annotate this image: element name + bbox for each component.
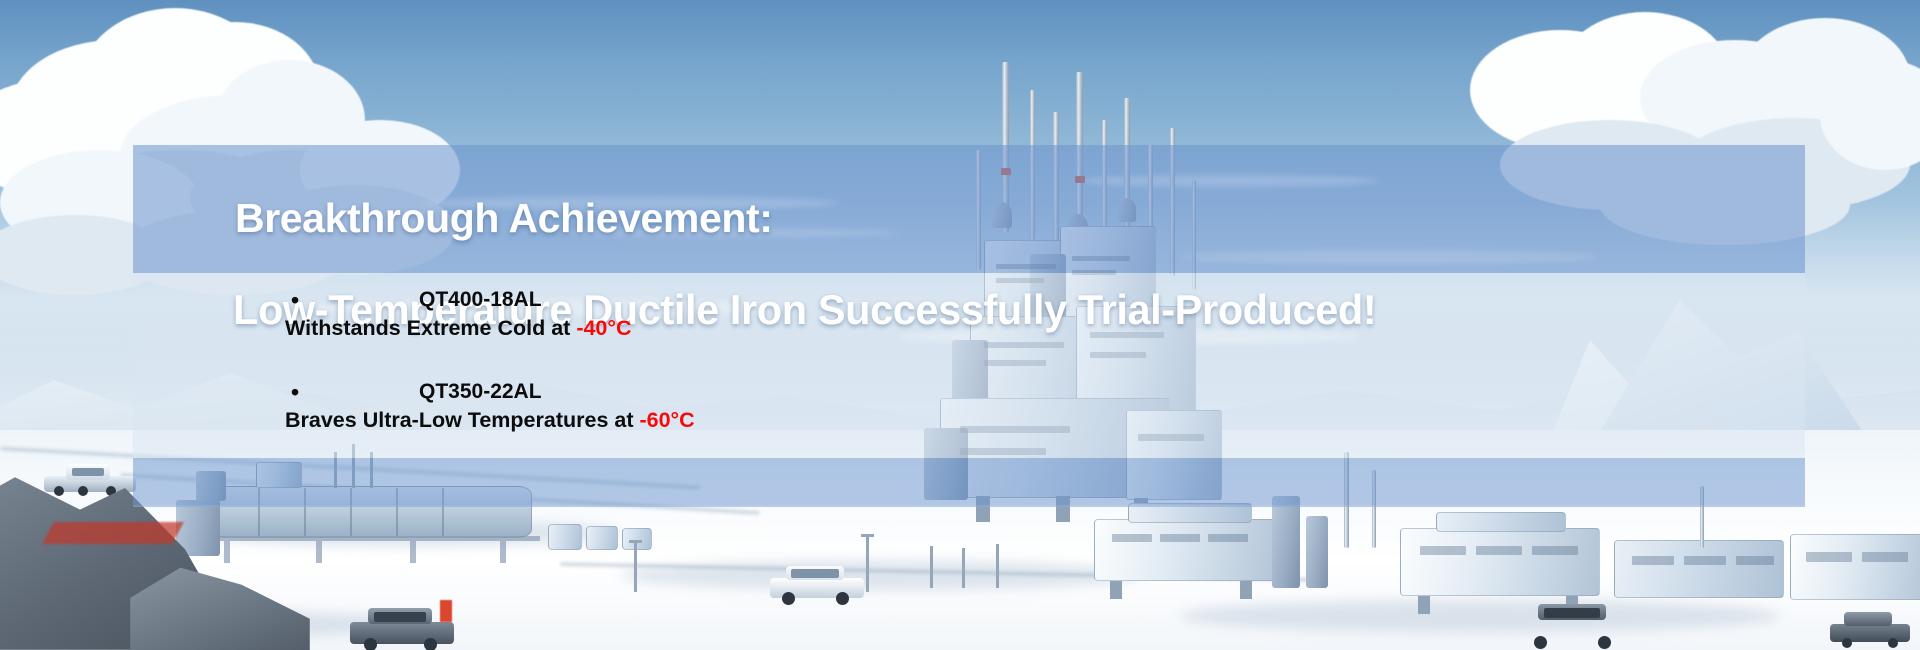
bullet-description-text-2: Braves Ultra-Low Temperatures at [285,408,639,432]
suv-dark-right [1518,604,1628,648]
banner-stage: Breakthrough Achievement: Low-Temperatur… [0,0,1920,650]
bullet-grade-row-2: • QT350-22AL [133,380,1805,404]
panel-bottom-edge [133,505,1805,507]
bullet-grade-row-1: • QT400-18AL [133,288,1805,312]
overlay-panel: Breakthrough Achievement: Low-Temperatur… [133,145,1805,507]
bullet-description-2: Braves Ultra-Low Temperatures at -60°C [133,408,1805,434]
red-ground-marker [42,522,184,544]
bullet-dot-icon: • [291,379,299,405]
vehicle-far-right [1830,612,1910,648]
bullet-description-text-1: Withstands Extreme Cold at [285,316,576,340]
bullet-description-1: Withstands Extreme Cold at -40°C [133,316,1805,342]
panel-band-footer [133,458,1805,507]
red-flag [440,600,452,622]
bullet-grade-1: QT400-18AL [419,288,542,311]
bullet-temperature-2: -60°C [639,408,694,432]
list-item: • QT350-22AL Braves Ultra-Low Temperatur… [133,380,1805,434]
bullet-list: • QT400-18AL Withstands Extreme Cold at … [133,273,1805,434]
snow-shadow [1180,600,1780,632]
suv-white [770,566,864,604]
headline-line-1: Breakthrough Achievement: [233,198,1793,239]
bullet-dot-icon: • [291,287,299,313]
bullet-grade-2: QT350-22AL [419,380,542,403]
list-item: • QT400-18AL Withstands Extreme Cold at … [133,288,1805,342]
bullet-temperature-1: -40°C [576,316,631,340]
suv-dark-left [350,608,454,650]
